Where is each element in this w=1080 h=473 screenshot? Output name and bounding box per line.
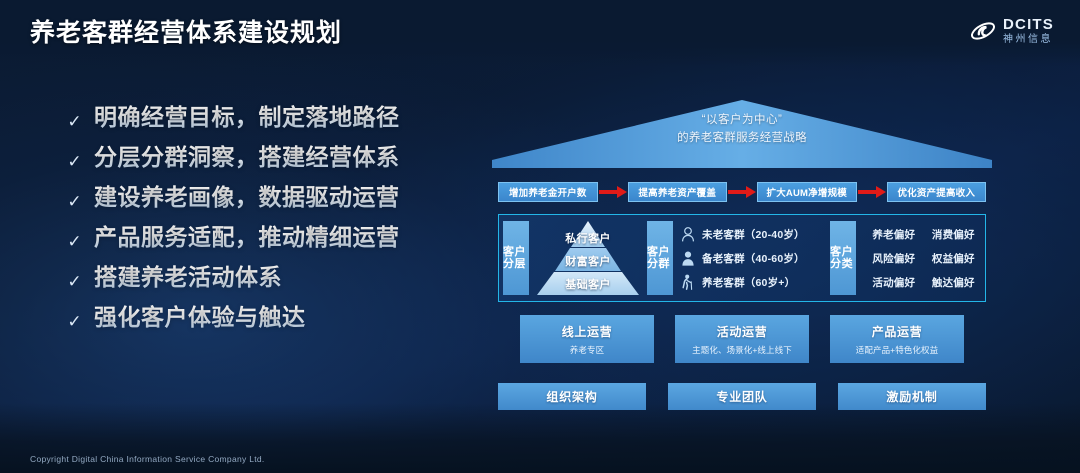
- customer-tier-pyramid: 私行客户 财富客户 基础客户: [529, 219, 647, 297]
- list-item: 未老客群（20-40岁）: [681, 226, 830, 242]
- foundation-card-team[interactable]: 专业团队: [668, 383, 816, 410]
- operation-title: 产品运营: [872, 323, 922, 340]
- pyramid-labels: 私行客户 财富客户 基础客户: [529, 219, 647, 297]
- strategy-house-diagram: “以客户为中心” 的养老客群服务经营战略 增加养老金开户数 提高养老资产覆盖 扩…: [492, 98, 992, 428]
- operation-subtitle: 主题化、场景化+线上线下: [692, 344, 792, 356]
- customer-group-label: 养老客群（60岁+）: [702, 275, 795, 290]
- customer-group-label: 备老客群（40-60岁）: [702, 251, 805, 266]
- customer-preference-grid: 养老偏好 消费偏好 风险偏好 权益偏好 活动偏好 触达偏好: [856, 219, 981, 297]
- right-arrow-icon: [598, 185, 628, 199]
- list-item: ✓ 分层分群洞察，搭建经营体系: [66, 144, 466, 174]
- label-customer-group: 客户分群: [647, 221, 673, 295]
- page-title: 养老客群经营体系建设规划: [30, 13, 342, 49]
- roof-line-2: 的养老客群服务经营战略: [492, 130, 992, 148]
- young-person-icon: [681, 226, 695, 242]
- list-item: ✓ 明确经营目标，制定落地路径: [66, 104, 466, 134]
- check-icon: ✓: [66, 228, 83, 254]
- customer-segmentation-panel: 客户分层 私行客户: [498, 214, 986, 302]
- operation-title: 线上运营: [562, 323, 612, 340]
- bullet-list: ✓ 明确经营目标，制定落地路径 ✓ 分层分群洞察，搭建经营体系 ✓ 建设养老画像…: [66, 104, 466, 334]
- preference-item: 触达偏好: [926, 275, 981, 290]
- operation-card-online[interactable]: 线上运营 养老专区: [520, 315, 654, 363]
- operation-card-product[interactable]: 产品运营 适配产品+特色化权益: [830, 315, 964, 363]
- pyramid-tier-2: 财富客户: [529, 253, 647, 269]
- operations-row: 线上运营 养老专区 活动运营 主题化、场景化+线上线下 产品运营 适配产品+特色…: [520, 315, 964, 363]
- kpi-box-3[interactable]: 扩大AUM净增规模: [757, 182, 857, 202]
- customer-group-label: 未老客群（20-40岁）: [702, 227, 805, 242]
- pyramid-tier-1: 私行客户: [529, 230, 647, 246]
- list-item: 备老客群（40-60岁）: [681, 250, 830, 266]
- diagram-roof: “以客户为中心” 的养老客群服务经营战略: [492, 98, 992, 170]
- operation-card-activity[interactable]: 活动运营 主题化、场景化+线上线下: [675, 315, 809, 363]
- preference-item: 养老偏好: [866, 227, 921, 242]
- kpi-box-1[interactable]: 增加养老金开户数: [498, 182, 598, 202]
- bullet-label: 建设养老画像，数据驱动运营: [94, 184, 400, 211]
- slide-header: 养老客群经营体系建设规划 DCITS 神州信息: [0, 0, 1080, 62]
- kpi-box-2[interactable]: 提高养老资产覆盖: [628, 182, 728, 202]
- list-item: ✓ 强化客户体验与触达: [66, 304, 466, 334]
- bullet-label: 明确经营目标，制定落地路径: [94, 104, 400, 131]
- logo-cn-label: 神州信息: [1003, 35, 1054, 45]
- check-icon: ✓: [66, 108, 83, 134]
- list-item: ✓ 搭建养老活动体系: [66, 264, 466, 294]
- foundation-card-org[interactable]: 组织架构: [498, 383, 646, 410]
- foundation-row: 组织架构 专业团队 激励机制: [498, 383, 986, 410]
- preference-item: 消费偏好: [926, 227, 981, 242]
- pyramid-tier-3: 基础客户: [529, 276, 647, 292]
- list-item: ✓ 建设养老画像，数据驱动运营: [66, 184, 466, 214]
- kpi-box-4[interactable]: 优化资产提高收入: [887, 182, 987, 202]
- bullet-label: 搭建养老活动体系: [94, 264, 282, 291]
- check-icon: ✓: [66, 148, 83, 174]
- operation-title: 活动运营: [717, 323, 767, 340]
- adult-person-icon: [681, 250, 695, 266]
- operation-subtitle: 养老专区: [570, 344, 604, 356]
- kpi-arrow-row: 增加养老金开户数 提高养老资产覆盖 扩大AUM净增规模 优化资产提高收入: [498, 182, 986, 202]
- right-arrow-icon: [727, 185, 757, 199]
- bullet-label: 强化客户体验与触达: [94, 304, 306, 331]
- check-icon: ✓: [66, 188, 83, 214]
- operation-subtitle: 适配产品+特色化权益: [856, 344, 938, 356]
- brand-logo: DCITS 神州信息: [970, 17, 1054, 45]
- bullet-label: 分层分群洞察，搭建经营体系: [94, 144, 400, 171]
- check-icon: ✓: [66, 308, 83, 334]
- right-arrow-icon: [857, 185, 887, 199]
- label-customer-class: 客户分类: [830, 221, 856, 295]
- preference-item: 活动偏好: [866, 275, 921, 290]
- foundation-card-incentive[interactable]: 激励机制: [838, 383, 986, 410]
- bullet-label: 产品服务适配，推动精细运营: [94, 224, 400, 251]
- list-item: 养老客群（60岁+）: [681, 274, 830, 290]
- roof-strategy-text: “以客户为中心” 的养老客群服务经营战略: [492, 112, 992, 148]
- preference-item: 权益偏好: [926, 251, 981, 266]
- preference-item: 风险偏好: [866, 251, 921, 266]
- logo-text: DCITS 神州信息: [1003, 17, 1054, 45]
- customer-group-list: 未老客群（20-40岁） 备老客群（40-60岁）: [673, 219, 830, 297]
- elderly-person-icon: [681, 274, 695, 290]
- list-item: ✓ 产品服务适配，推动精细运营: [66, 224, 466, 254]
- label-customer-tier: 客户分层: [503, 221, 529, 295]
- copyright-footer: Copyright Digital China Information Serv…: [30, 454, 265, 464]
- logo-en-label: DCITS: [1003, 17, 1054, 32]
- roof-line-1: “以客户为中心”: [492, 112, 992, 130]
- dcits-swirl-logo-icon: [970, 18, 996, 44]
- check-icon: ✓: [66, 268, 83, 294]
